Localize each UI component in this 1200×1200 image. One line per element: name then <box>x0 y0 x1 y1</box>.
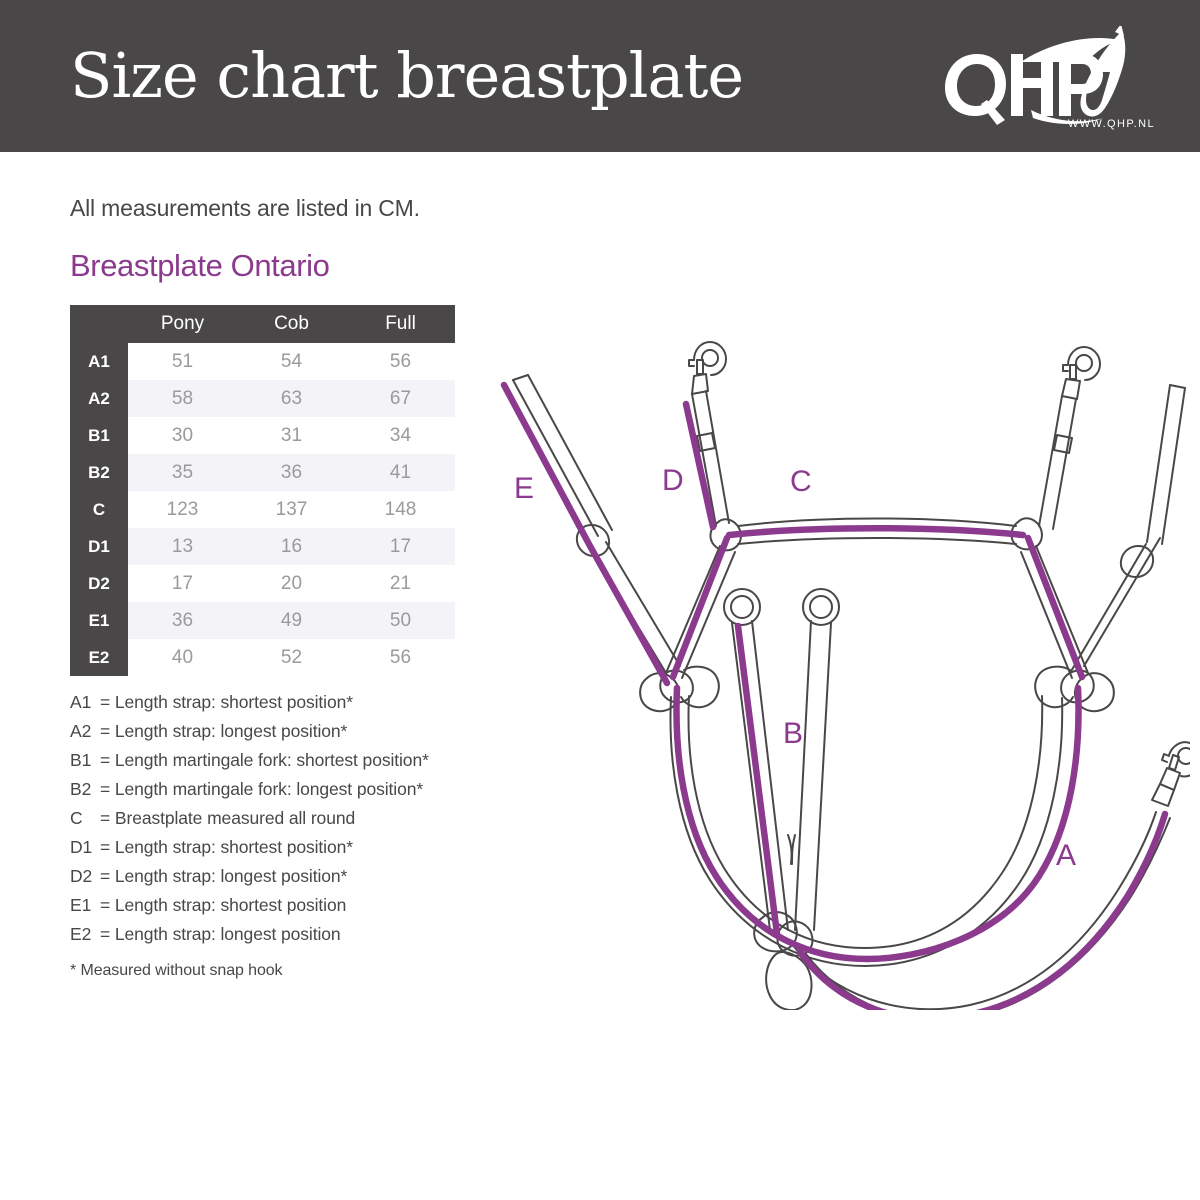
page-title: Size chart breastplate <box>70 36 743 116</box>
cell-cob: 52 <box>237 639 346 676</box>
column-header-pony: Pony <box>128 305 237 343</box>
c-strap-top-edge <box>738 519 1016 527</box>
diagram-label-c: C <box>790 465 812 499</box>
measurement-note: All measurements are listed in CM. <box>70 195 420 222</box>
b-fork-right-ring-inner <box>810 596 832 618</box>
cell-pony: 51 <box>128 343 237 380</box>
legend-eq: = <box>100 750 110 770</box>
column-header-cob: Cob <box>237 305 346 343</box>
cell-cob: 49 <box>237 602 346 639</box>
legend-eq: = <box>100 721 110 741</box>
legend-code: D2 <box>70 862 100 891</box>
legend-text: Length strap: shortest position <box>115 895 346 915</box>
breastplate-illustration <box>470 330 1190 1010</box>
diagram-label-d: D <box>662 464 684 498</box>
b-fork-left-ring-inner <box>731 596 753 618</box>
cell-cob: 20 <box>237 565 346 602</box>
measure-a-highlight <box>800 814 1165 1010</box>
legend-code: D1 <box>70 833 100 862</box>
table-corner-cell <box>70 305 128 343</box>
legend-code: E1 <box>70 891 100 920</box>
legend-code: B2 <box>70 775 100 804</box>
legend-text: Length martingale fork: shortest positio… <box>115 750 429 770</box>
diagram-label-a: A <box>1056 839 1076 873</box>
size-table: Pony Cob Full A1 51 54 56 A2 58 63 67 B1… <box>70 305 455 676</box>
cell-cob: 31 <box>237 417 346 454</box>
cell-pony: 123 <box>128 491 237 528</box>
table-row: E2 40 52 56 <box>70 639 455 676</box>
cell-full: 17 <box>346 528 455 565</box>
cell-cob: 16 <box>237 528 346 565</box>
a-snap-hook-icon <box>1160 742 1190 790</box>
legend-text: Length strap: shortest position* <box>115 692 353 712</box>
a-strap-hook-base <box>1152 784 1174 806</box>
row-code: D2 <box>70 565 128 602</box>
row-code: C <box>70 491 128 528</box>
size-chart-page: Size chart breastplate <box>0 0 1200 1200</box>
measure-c-left-highlight <box>673 538 727 677</box>
body-loop-outer-edge <box>670 697 1062 966</box>
cell-full: 50 <box>346 602 455 639</box>
section-title: Breastplate Ontario <box>70 248 330 284</box>
diagram-label-b: B <box>783 717 803 751</box>
b-fork-left-edge-1 <box>732 623 770 930</box>
right-inner-keeper <box>1054 435 1072 453</box>
strap-outlines <box>513 342 1190 1010</box>
cell-pony: 36 <box>128 602 237 639</box>
b-fork-inner-notch-right <box>792 835 795 864</box>
legend-eq: = <box>100 924 110 944</box>
c-strap-bottom-edge <box>738 538 1016 544</box>
e-strap-lower-edge-2 <box>606 542 680 666</box>
b-fork-left-ring <box>724 589 760 625</box>
cell-pony: 40 <box>128 639 237 676</box>
legend-code: A2 <box>70 717 100 746</box>
right-inner-strap-edge-1 <box>1039 396 1062 526</box>
cell-pony: 58 <box>128 380 237 417</box>
row-code: E2 <box>70 639 128 676</box>
measure-c-right-highlight <box>1028 538 1082 677</box>
measure-c-top-highlight <box>729 528 1023 535</box>
cell-pony: 17 <box>128 565 237 602</box>
table-row: A1 51 54 56 <box>70 343 455 380</box>
row-code: B1 <box>70 417 128 454</box>
legend-text: Length martingale fork: longest position… <box>115 779 423 799</box>
legend-eq: = <box>100 837 110 857</box>
right-inner-strap-edge-2 <box>1053 399 1076 529</box>
legend-eq: = <box>100 866 110 886</box>
right-snap-hook-icon <box>1062 347 1100 399</box>
breastplate-diagram: E D C B A <box>470 330 1190 1010</box>
cell-full: 41 <box>346 454 455 491</box>
logo-url-text: WWW.QHP.NL <box>1068 118 1155 130</box>
cell-full: 21 <box>346 565 455 602</box>
b-fork-right-edge-1 <box>795 621 811 930</box>
legend-eq: = <box>100 692 110 712</box>
a-strap-edge-1 <box>792 812 1156 1009</box>
e-strap-end-cap <box>513 375 528 380</box>
table-row: C 123 137 148 <box>70 491 455 528</box>
right-outer-strap-keeper <box>1121 546 1153 577</box>
legend-footnote: * Measured without snap hook <box>70 962 282 980</box>
right-outer-strap-end-cap <box>1170 385 1185 388</box>
legend-text: Length strap: longest position* <box>115 866 347 886</box>
cell-cob: 36 <box>237 454 346 491</box>
legend-text: Breastplate measured all round <box>115 808 355 828</box>
page-header: Size chart breastplate <box>0 0 1200 152</box>
cell-cob: 63 <box>237 380 346 417</box>
right-outer-strap-lower-edge-2 <box>1070 544 1146 673</box>
legend-eq: = <box>100 895 110 915</box>
diagram-label-e: E <box>514 472 534 506</box>
row-code: D1 <box>70 528 128 565</box>
cell-pony: 30 <box>128 417 237 454</box>
legend-code: B1 <box>70 746 100 775</box>
cell-full: 56 <box>346 639 455 676</box>
cell-full: 67 <box>346 380 455 417</box>
table-row: B1 30 31 34 <box>70 417 455 454</box>
cell-full: 56 <box>346 343 455 380</box>
d-snap-hook-icon <box>689 342 726 394</box>
legend-text: Length strap: longest position <box>115 924 341 944</box>
legend-code: A1 <box>70 688 100 717</box>
legend-eq: = <box>100 808 110 828</box>
row-code: A1 <box>70 343 128 380</box>
cell-pony: 35 <box>128 454 237 491</box>
measure-e-highlight <box>504 385 667 683</box>
b-fork-right-ring <box>803 589 839 625</box>
legend-code: E2 <box>70 920 100 949</box>
legend-code: C <box>70 804 100 833</box>
row-code: A2 <box>70 380 128 417</box>
column-header-full: Full <box>346 305 455 343</box>
table-row: D2 17 20 21 <box>70 565 455 602</box>
row-code: E1 <box>70 602 128 639</box>
table-header-row: Pony Cob Full <box>70 305 455 343</box>
table-row: D1 13 16 17 <box>70 528 455 565</box>
row-code: B2 <box>70 454 128 491</box>
size-table-head: Pony Cob Full <box>70 305 455 343</box>
table-row: A2 58 63 67 <box>70 380 455 417</box>
cell-full: 148 <box>346 491 455 528</box>
d-strap-keeper <box>697 433 715 451</box>
b-fork-right-edge-2 <box>814 623 831 930</box>
legend-eq: = <box>100 779 110 799</box>
qhp-logo: WWW.QHP.NL <box>943 26 1158 134</box>
cell-pony: 13 <box>128 528 237 565</box>
measure-d-highlight <box>686 404 713 527</box>
legend-text: Length strap: shortest position* <box>115 837 353 857</box>
b-fork-inner-notch-left <box>788 835 792 864</box>
cell-cob: 137 <box>237 491 346 528</box>
e-strap-outer-edge-1 <box>513 380 598 536</box>
table-row: E1 36 49 50 <box>70 602 455 639</box>
cell-full: 34 <box>346 417 455 454</box>
table-row: B2 35 36 41 <box>70 454 455 491</box>
size-table-body: A1 51 54 56 A2 58 63 67 B1 30 31 34 B2 3… <box>70 343 455 676</box>
cell-cob: 54 <box>237 343 346 380</box>
legend-text: Length strap: longest position* <box>115 721 347 741</box>
